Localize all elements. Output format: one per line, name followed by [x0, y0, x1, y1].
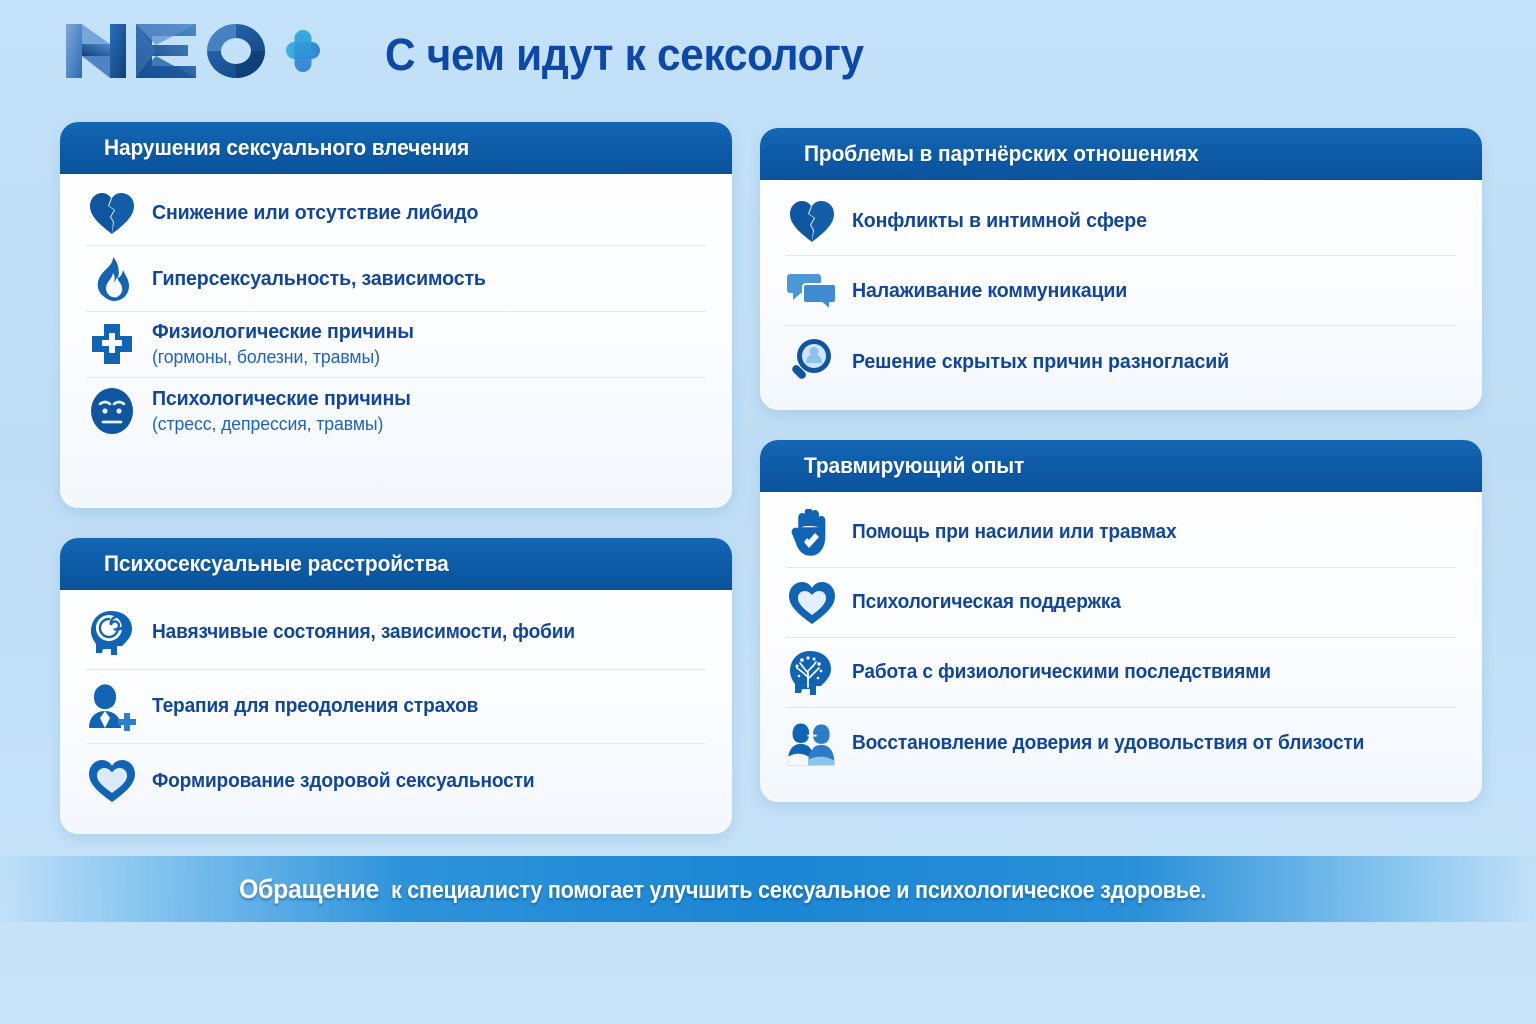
heart-icon	[786, 577, 838, 629]
head-tree-icon	[786, 647, 838, 699]
card-trauma-header: Травмирующий опыт	[760, 440, 1482, 492]
page-title: С чем идут к сексологу	[385, 22, 1043, 88]
heart-outline-icon	[86, 755, 138, 807]
card-libido-title: Нарушения сексуального влечения	[104, 135, 469, 161]
hand-stop-icon	[786, 507, 838, 559]
footer-normal-text: к специалисту помогает улучшить сексуаль…	[391, 877, 1206, 905]
list-item[interactable]: Психологическая поддержка	[786, 568, 1456, 638]
list-item[interactable]: Работа с физиологическими последствиями	[786, 638, 1456, 708]
list-item-label: Работа с физиологическими последствиями	[852, 660, 1271, 684]
card-partner-title: Проблемы в партнёрских отношениях	[804, 141, 1198, 167]
footer-strong-text: Обращение	[239, 874, 379, 905]
list-item[interactable]: Конфликты в интимной сфере	[786, 186, 1456, 256]
list-item-label: Помощь при насилии или травмах	[852, 520, 1176, 544]
head-spiral-icon	[86, 607, 138, 659]
list-item-sublabel: (стресс, депрессия, травмы)	[152, 412, 411, 436]
magnifier-person-icon	[786, 335, 838, 387]
list-item[interactable]: Психологические причины (стресс, депресс…	[86, 378, 706, 444]
card-psychosexual: Психосексуальные расстройства Навязчивые…	[60, 538, 732, 834]
list-item[interactable]: Восстановление доверия и удовольствия от…	[786, 708, 1456, 778]
list-item-label: Психологические причины	[152, 386, 411, 411]
list-item-label: Навязчивые состояния, зависимости, фобии	[152, 620, 575, 644]
card-trauma-body: Помощь при насилии или травмах Психологи…	[760, 492, 1482, 788]
broken-heart-icon	[786, 195, 838, 247]
logo-plus-icon	[286, 30, 320, 72]
card-partner: Проблемы в партнёрских отношениях Конфли…	[760, 128, 1482, 410]
card-psychosexual-body: Навязчивые состояния, зависимости, фобии…	[60, 590, 732, 828]
logo-letter-e	[136, 24, 196, 78]
sad-face-icon	[86, 385, 138, 437]
list-item[interactable]: Снижение или отсутствие либидо	[86, 180, 706, 246]
list-item[interactable]: Физиологические причины (гормоны, болезн…	[86, 312, 706, 378]
broken-heart-icon	[86, 187, 138, 239]
card-libido: Нарушения сексуального влечения Снижение…	[60, 122, 732, 508]
card-trauma: Травмирующий опыт Помощь при насилии или…	[760, 440, 1482, 802]
list-item-label: Решение скрытых причин разногласий	[852, 349, 1229, 374]
list-item-label: Гиперсексуальность, зависимость	[152, 266, 486, 291]
list-item[interactable]: Навязчивые состояния, зависимости, фобии	[86, 596, 706, 670]
list-item-label: Физиологические причины	[152, 319, 414, 344]
list-item[interactable]: Налаживание коммуникации	[786, 256, 1456, 326]
footer-banner: Обращение к специалисту помогает улучшит…	[0, 856, 1536, 922]
logo-letter-n	[66, 24, 126, 78]
person-plus-icon	[86, 681, 138, 733]
list-item-label: Восстановление доверия и удовольствия от…	[852, 731, 1364, 755]
list-item-label: Терапия для преодоления страхов	[152, 694, 478, 718]
flame-icon	[86, 253, 138, 305]
card-libido-header: Нарушения сексуального влечения	[60, 122, 732, 174]
list-item-label: Налаживание коммуникации	[852, 278, 1127, 303]
list-item[interactable]: Гиперсексуальность, зависимость	[86, 246, 706, 312]
list-item-label: Формирование здоровой сексуальности	[152, 769, 534, 793]
list-item[interactable]: Терапия для преодоления страхов	[86, 670, 706, 744]
card-psychosexual-header: Психосексуальные расстройства	[60, 538, 732, 590]
card-partner-body: Конфликты в интимной сфере Налаживание к…	[760, 180, 1482, 406]
list-item-label: Снижение или отсутствие либидо	[152, 200, 478, 225]
page-header: С чем идут к сексологу	[0, 0, 1536, 112]
medical-cross-icon	[86, 319, 138, 371]
couple-embrace-icon	[786, 717, 838, 769]
card-libido-body: Снижение или отсутствие либидо Гиперсекс…	[60, 174, 732, 454]
list-item-label: Психологическая поддержка	[852, 590, 1121, 614]
brand-logo[interactable]	[58, 18, 320, 84]
list-item[interactable]: Решение скрытых причин разногласий	[786, 326, 1456, 396]
list-item-label: Конфликты в интимной сфере	[852, 208, 1147, 233]
logo-letter-o	[207, 24, 265, 78]
card-psychosexual-title: Психосексуальные расстройства	[104, 551, 449, 577]
list-item[interactable]: Помощь при насилии или травмах	[786, 498, 1456, 568]
list-item[interactable]: Формирование здоровой сексуальности	[86, 744, 706, 818]
speech-bubbles-icon	[786, 265, 838, 317]
card-partner-header: Проблемы в партнёрских отношениях	[760, 128, 1482, 180]
card-trauma-title: Травмирующий опыт	[804, 453, 1024, 479]
list-item-sublabel: (гормоны, болезни, травмы)	[152, 345, 414, 369]
